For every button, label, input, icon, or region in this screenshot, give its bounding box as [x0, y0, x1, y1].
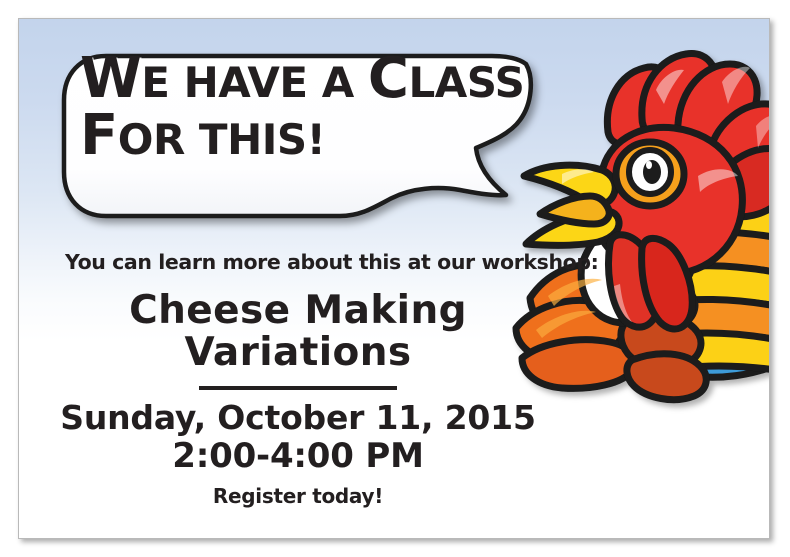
promo-card-stage: WE HAVE A CLASS FOR THIS! You can learn … — [0, 0, 790, 557]
divider-row — [38, 386, 558, 390]
speech-bubble-line-2: FOR THIS! — [80, 109, 570, 164]
class-title-line-2: Variations — [38, 332, 558, 374]
register-call-to-action: Register today! — [38, 484, 558, 508]
promo-card: WE HAVE A CLASS FOR THIS! You can learn … — [18, 18, 770, 539]
event-time: 2:00-4:00 PM — [38, 437, 558, 475]
rooster-eye — [616, 142, 684, 206]
event-date: Sunday, October 11, 2015 — [38, 400, 558, 437]
speech-bubble-text: WE HAVE A CLASS FOR THIS! — [80, 52, 570, 164]
horizontal-divider — [199, 386, 397, 390]
class-title-line-1: Cheese Making — [38, 290, 558, 332]
speech-bubble: WE HAVE A CLASS FOR THIS! — [40, 30, 610, 240]
workshop-subtitle: You can learn more about this at our wor… — [65, 250, 598, 274]
speech-bubble-line-1: WE HAVE A CLASS — [80, 52, 570, 107]
event-details-block: Cheese Making Variations Sunday, October… — [38, 290, 558, 508]
class-title: Cheese Making Variations — [38, 290, 558, 374]
